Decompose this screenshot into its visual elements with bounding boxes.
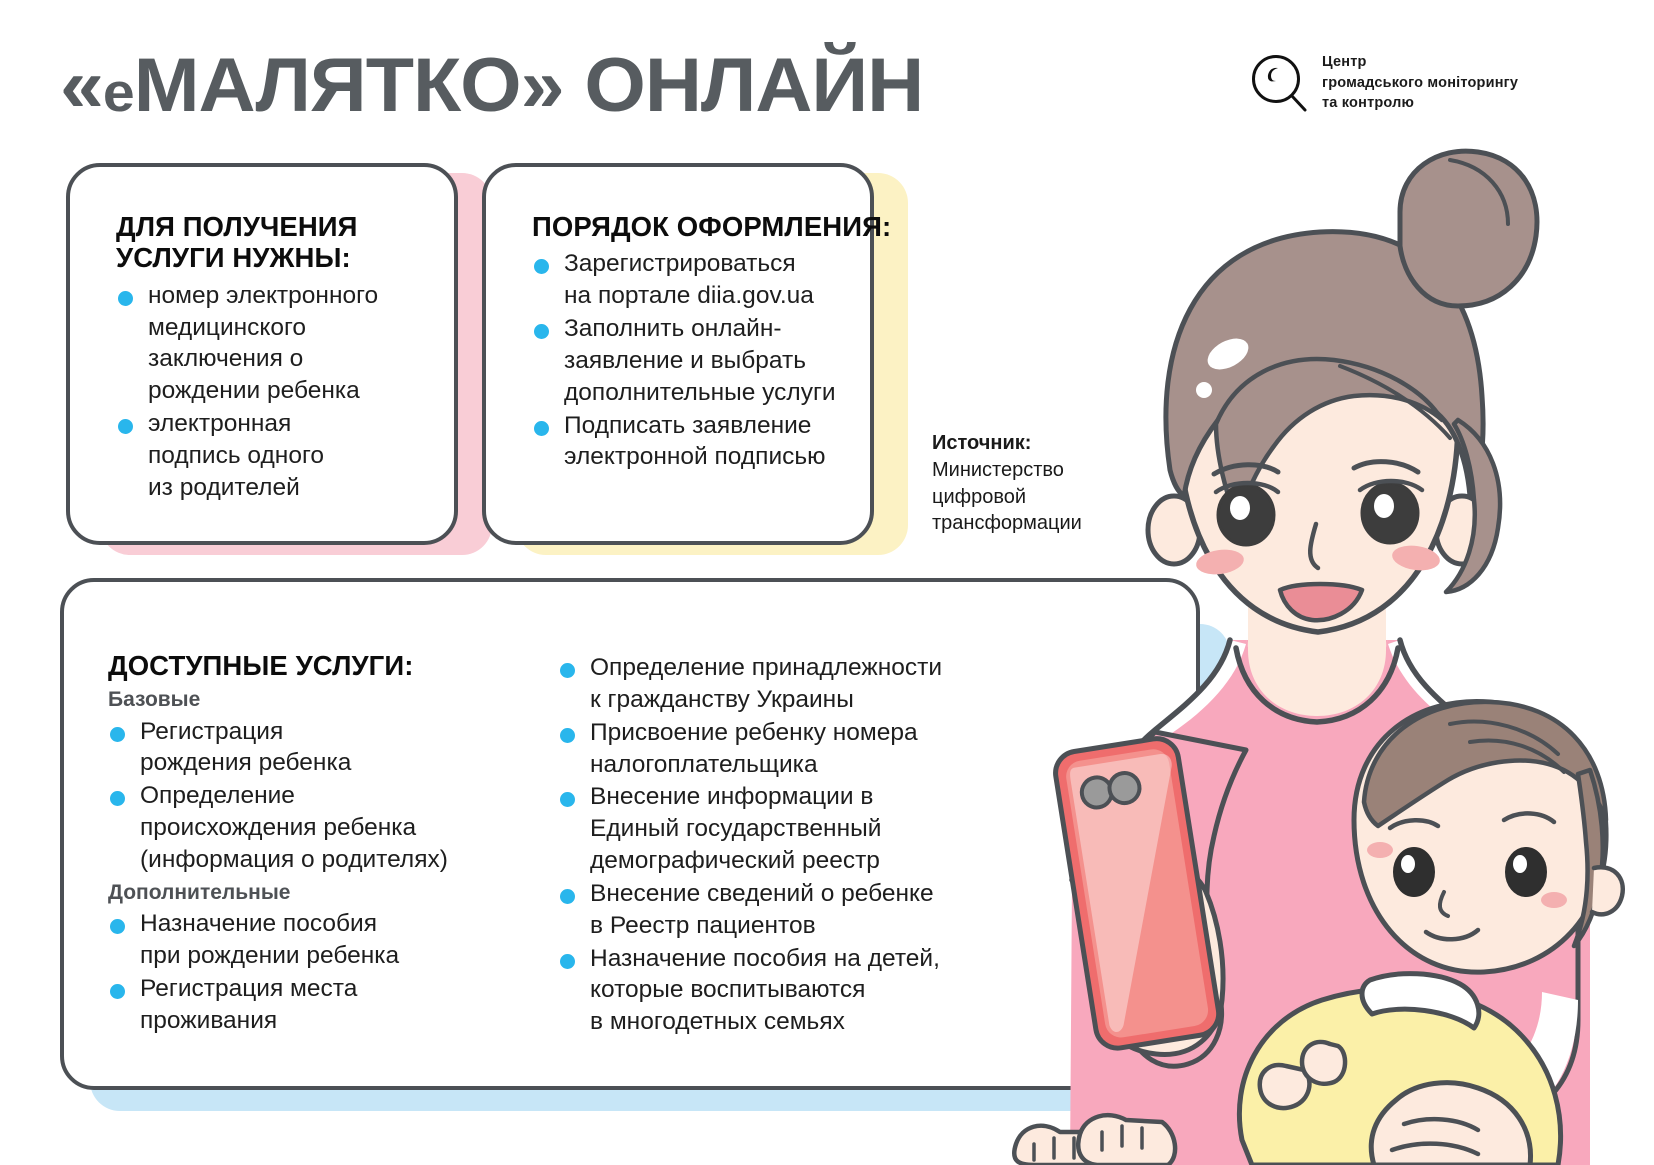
page-title-main: МАЛЯТКО» ОНЛАЙН <box>134 43 923 128</box>
infographic-poster: «еМАЛЯТКО» ОНЛАЙН Центр громадського мон… <box>0 0 1654 1165</box>
mother-baby-illustration-svg <box>930 120 1654 1165</box>
list-item: номер электронного медицинского заключен… <box>116 280 456 407</box>
services-subheading-extra: Дополнительные <box>108 880 528 906</box>
card-procedure: ПОРЯДОК ОФОРМЛЕНИЯ: Зарегистрироваться н… <box>482 163 874 545</box>
card-procedure-heading: ПОРЯДОК ОФОРМЛЕНИЯ: <box>532 211 892 242</box>
list-item: Регистрация места проживания <box>108 973 528 1037</box>
card-requirements-content: ДЛЯ ПОЛУЧЕНИЯ УСЛУГИ НУЖНЫ: номер электр… <box>116 211 456 504</box>
page-title-small-e: е <box>103 61 134 123</box>
services-basic-list: Регистрация рождения ребенка Определение… <box>108 716 528 876</box>
services-extra-list: Назначение пособия при рождении ребенка … <box>108 908 528 1036</box>
list-item: Подписать заявление электронной подписью <box>532 410 892 474</box>
organisation-logo-text: Центр громадського моніторингу та контро… <box>1322 52 1518 114</box>
card-procedure-list: Зарегистрироваться на портале diia.gov.u… <box>532 248 892 473</box>
card-requirements-list: номер электронного медицинского заключен… <box>116 280 456 504</box>
list-item: Определение происхождения ребенка (инфор… <box>108 780 528 876</box>
card-requirements-heading: ДЛЯ ПОЛУЧЕНИЯ УСЛУГИ НУЖНЫ: <box>116 211 456 274</box>
services-subheading-basic: Базовые <box>108 687 528 713</box>
card-procedure-content: ПОРЯДОК ОФОРМЛЕНИЯ: Зарегистрироваться н… <box>532 211 892 473</box>
magnifier-circle-icon <box>1250 53 1308 113</box>
card-requirements: ДЛЯ ПОЛУЧЕНИЯ УСЛУГИ НУЖНЫ: номер электр… <box>66 163 458 545</box>
mother-baby-illustration <box>930 120 1654 1165</box>
services-column-left: ДОСТУПНЫЕ УСЛУГИ: Базовые Регистрация ро… <box>108 650 528 1038</box>
logo-line-3: та контролю <box>1322 95 1414 111</box>
page-title: «еМАЛЯТКО» ОНЛАЙН <box>60 42 923 129</box>
list-item: Регистрация рождения ребенка <box>108 716 528 780</box>
logo-line-1: Центр <box>1322 54 1367 70</box>
list-item: Назначение пособия при рождении ребенка <box>108 908 528 972</box>
list-item: Заполнить онлайн- заявление и выбрать до… <box>532 313 892 409</box>
organisation-logo: Центр громадського моніторингу та контро… <box>1250 52 1518 114</box>
card-services-heading: ДОСТУПНЫЕ УСЛУГИ: <box>108 650 528 681</box>
list-item: электронная подпись одного из родителей <box>116 408 456 504</box>
page-title-quote: « <box>60 43 103 128</box>
logo-line-2: громадського моніторингу <box>1322 75 1518 91</box>
list-item: Зарегистрироваться на портале diia.gov.u… <box>532 248 892 312</box>
